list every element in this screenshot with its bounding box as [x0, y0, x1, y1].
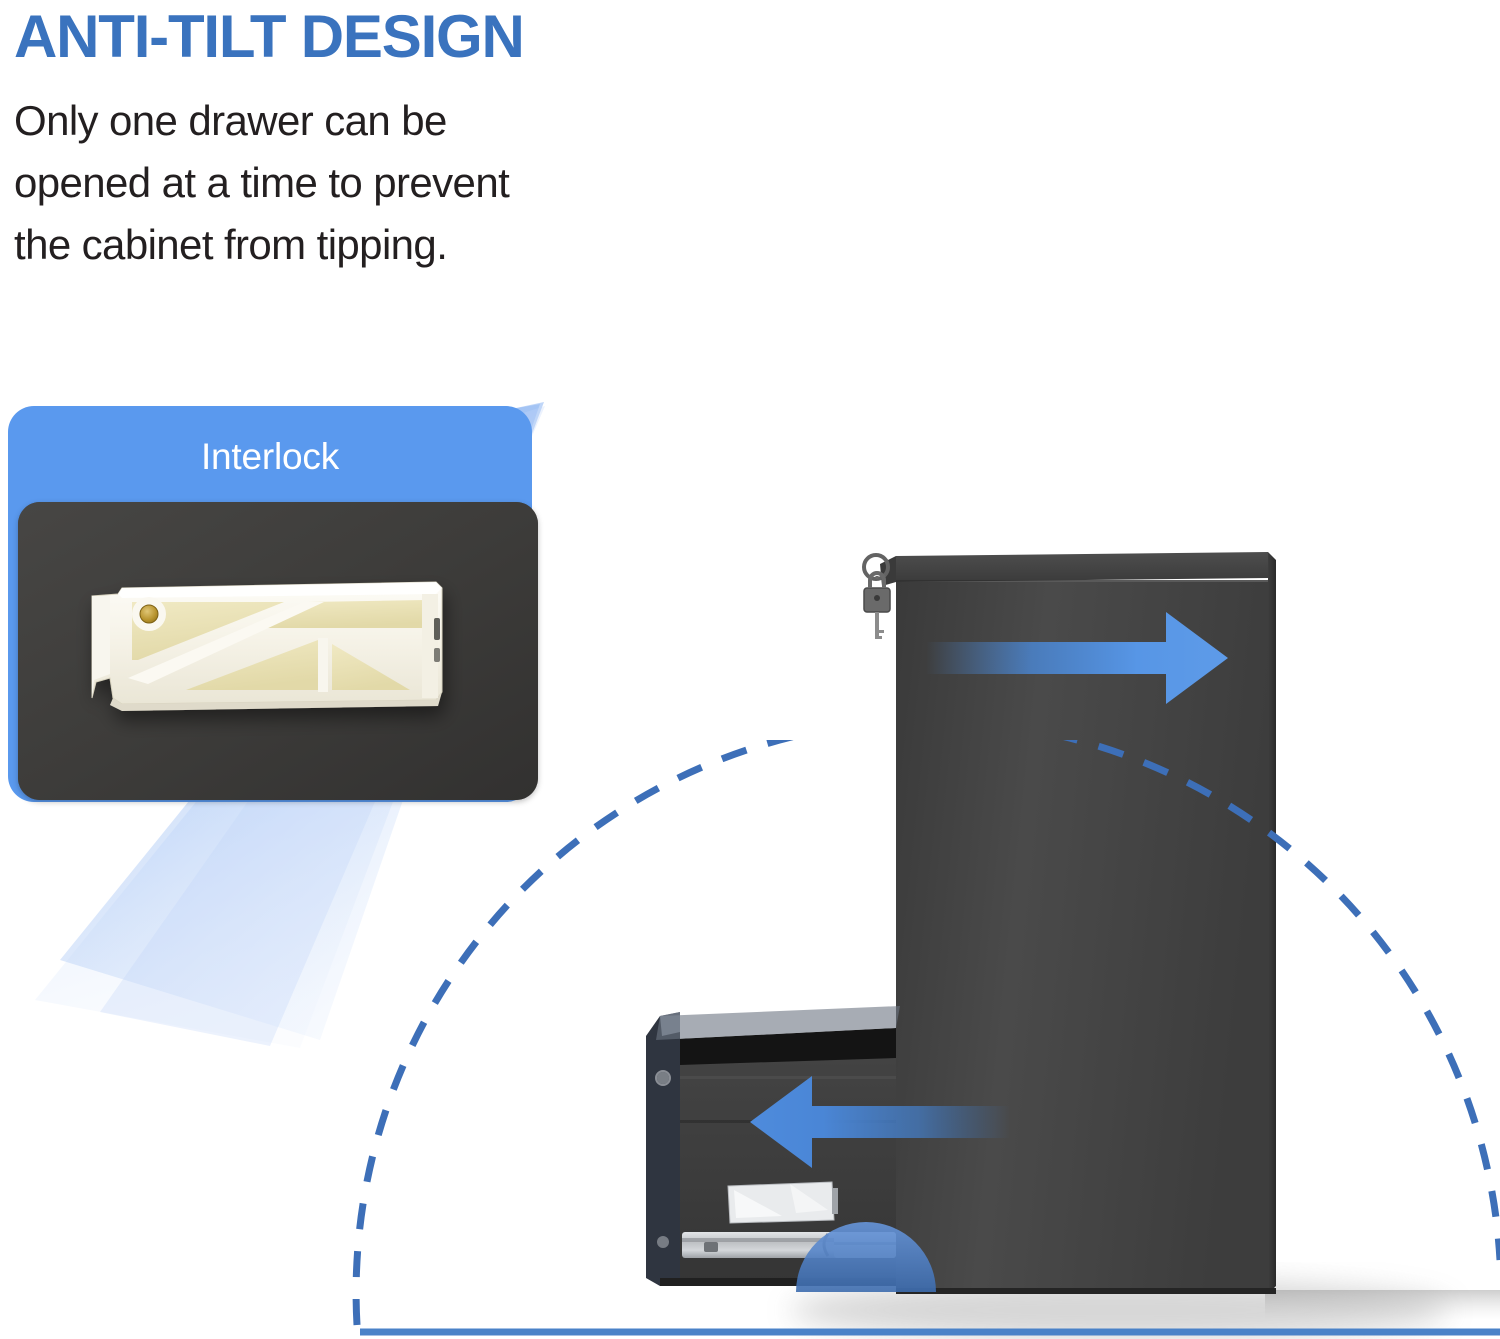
cabinet-bottom-edge	[896, 1288, 1276, 1294]
interlock-bracket-shape	[92, 582, 442, 711]
padlock-with-key	[864, 555, 890, 639]
cabinet-side-panel	[1268, 552, 1276, 1294]
subtitle-line-1: Only one drawer can be	[14, 90, 774, 152]
callout-photo-frame	[18, 502, 538, 800]
cabinet-top-strip	[896, 552, 1268, 582]
cabinet-front-face	[896, 582, 1268, 1294]
interlock-tab	[728, 1182, 838, 1223]
page-subtitle: Only one drawer can be opened at a time …	[14, 74, 774, 276]
infographic-page: ANTI-TILT DESIGN Only one drawer can be …	[0, 0, 1500, 1339]
interlock-part-photo	[18, 502, 538, 800]
heading-block: ANTI-TILT DESIGN Only one drawer can be …	[14, 0, 774, 276]
filing-cabinet-illustration	[600, 520, 1500, 1339]
interlock-callout: Interlock	[8, 406, 544, 806]
callout-header-label: Interlock	[8, 436, 532, 478]
key	[875, 612, 879, 638]
page-title: ANTI-TILT DESIGN	[14, 0, 774, 74]
subtitle-line-3: the cabinet from tipping.	[14, 214, 774, 276]
subtitle-line-2: opened at a time to prevent	[14, 152, 774, 214]
